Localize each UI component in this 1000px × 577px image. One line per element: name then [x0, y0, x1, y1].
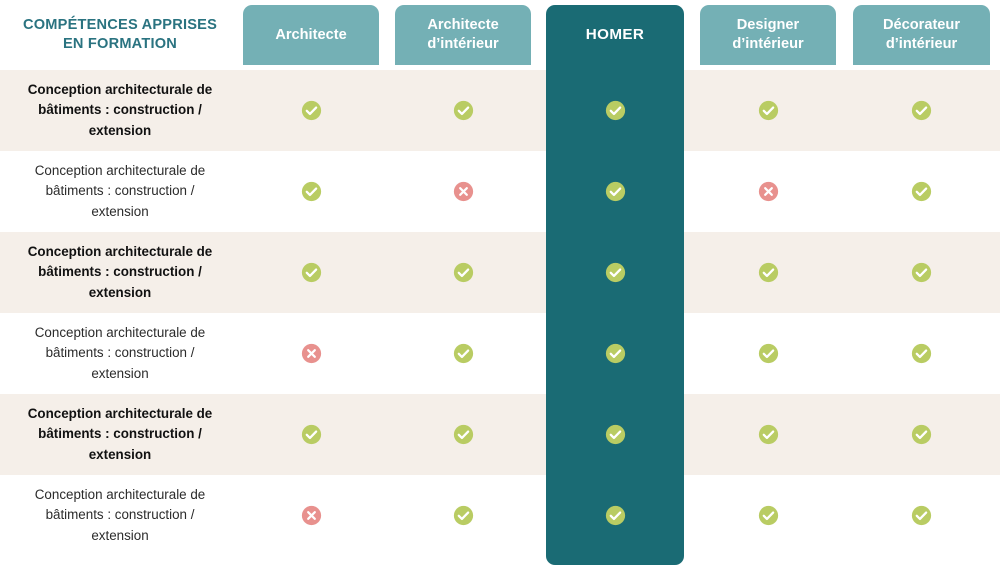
row-label: Conception architecturale de bâtiments :…	[0, 70, 240, 151]
check-circle-icon	[453, 343, 474, 364]
table-cell	[395, 232, 531, 313]
table-cell	[243, 151, 379, 232]
table-cell	[395, 151, 531, 232]
table-cell	[700, 394, 836, 475]
table-cell	[546, 475, 684, 556]
check-circle-icon	[911, 343, 932, 364]
table-cell	[243, 394, 379, 475]
cross-circle-icon	[301, 505, 322, 526]
table-cell	[700, 151, 836, 232]
check-circle-icon	[758, 262, 779, 283]
check-circle-icon	[605, 424, 626, 445]
table-cell	[700, 313, 836, 394]
table-cell	[546, 394, 684, 475]
check-circle-icon	[911, 100, 932, 121]
check-circle-icon	[758, 100, 779, 121]
table-cell	[395, 394, 531, 475]
check-circle-icon	[605, 343, 626, 364]
table-row: Conception architecturale de bâtiments :…	[0, 70, 1000, 151]
check-circle-icon	[605, 505, 626, 526]
table-row: Conception architecturale de bâtiments :…	[0, 151, 1000, 232]
check-circle-icon	[911, 262, 932, 283]
table-cell	[243, 313, 379, 394]
check-circle-icon	[301, 262, 322, 283]
check-circle-icon	[605, 181, 626, 202]
table-cell	[853, 394, 990, 475]
table-cell	[395, 313, 531, 394]
check-circle-icon	[453, 424, 474, 445]
check-circle-icon	[301, 100, 322, 121]
row-label: Conception architecturale de bâtiments :…	[0, 394, 240, 475]
table-row: Conception architecturale de bâtiments :…	[0, 232, 1000, 313]
check-circle-icon	[605, 262, 626, 283]
table-cell	[243, 70, 379, 151]
cross-circle-icon	[758, 181, 779, 202]
table-cell	[700, 475, 836, 556]
table-cell	[853, 151, 990, 232]
table-footer-spacer	[0, 565, 1000, 577]
table-cell	[853, 313, 990, 394]
table-cell	[395, 70, 531, 151]
check-circle-icon	[758, 343, 779, 364]
check-circle-icon	[453, 505, 474, 526]
table-cell	[546, 232, 684, 313]
check-circle-icon	[911, 505, 932, 526]
table-row: Conception architecturale de bâtiments :…	[0, 313, 1000, 394]
table-cell	[546, 313, 684, 394]
table-cell	[700, 232, 836, 313]
table-cell	[546, 70, 684, 151]
check-circle-icon	[758, 505, 779, 526]
table-cell	[546, 151, 684, 232]
table-cell	[243, 232, 379, 313]
check-circle-icon	[911, 424, 932, 445]
table-cell	[853, 70, 990, 151]
column-header-4[interactable]: Designer d’intérieur	[700, 5, 836, 65]
row-label: Conception architecturale de bâtiments :…	[0, 232, 240, 313]
check-circle-icon	[605, 100, 626, 121]
table-row: Conception architecturale de bâtiments :…	[0, 475, 1000, 556]
check-circle-icon	[301, 424, 322, 445]
check-circle-icon	[911, 181, 932, 202]
row-label: Conception architecturale de bâtiments :…	[0, 151, 240, 232]
table-cell	[395, 475, 531, 556]
table-body: Conception architecturale de bâtiments :…	[0, 70, 1000, 565]
check-circle-icon	[758, 424, 779, 445]
table-header-row: COMPÉTENCES APPRISES EN FORMATION Archit…	[0, 0, 1000, 70]
column-header-3[interactable]: HOMER	[546, 5, 684, 65]
table-cell	[243, 475, 379, 556]
table-cell	[700, 70, 836, 151]
check-circle-icon	[453, 262, 474, 283]
check-circle-icon	[301, 181, 322, 202]
column-header-1[interactable]: Architecte	[243, 5, 379, 65]
column-header-2[interactable]: Architecte d’intérieur	[395, 5, 531, 65]
table-cell	[853, 475, 990, 556]
row-label: Conception architecturale de bâtiments :…	[0, 313, 240, 394]
table-cell	[853, 232, 990, 313]
column-header-5[interactable]: Décorateur d’intérieur	[853, 5, 990, 65]
comparison-table: COMPÉTENCES APPRISES EN FORMATION Archit…	[0, 0, 1000, 577]
row-label: Conception architecturale de bâtiments :…	[0, 475, 240, 556]
check-circle-icon	[453, 100, 474, 121]
cross-circle-icon	[453, 181, 474, 202]
page-title: COMPÉTENCES APPRISES EN FORMATION	[0, 0, 240, 70]
cross-circle-icon	[301, 343, 322, 364]
table-row: Conception architecturale de bâtiments :…	[0, 394, 1000, 475]
